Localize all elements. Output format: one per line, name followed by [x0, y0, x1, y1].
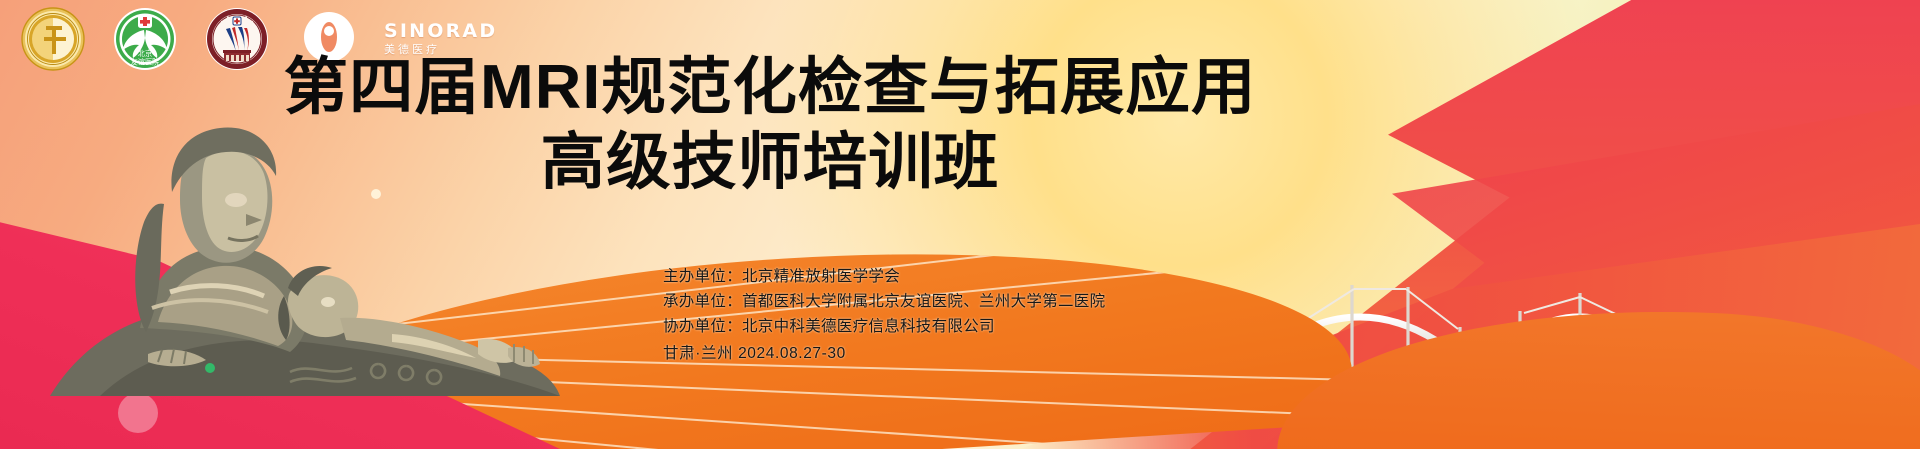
location-date-line: 甘肃·兰州 2024.08.27-30 — [663, 341, 1105, 366]
title-line-1: 第四届MRI规范化检查与拓展应用 — [0, 56, 1571, 119]
supporting-unit-line: 协办单位：北京中科美德医疗信息科技有限公司 — [663, 314, 1105, 339]
title-line-2: 高级技师培训班 — [0, 131, 1571, 194]
host-unit-line: 主办单位：北京精准放射医学学会 — [663, 264, 1105, 289]
sinorad-brand-en: SINORAD — [384, 22, 497, 42]
decor-dot-large — [118, 393, 158, 433]
sinorad-wordmark: SINORAD 美德医疗 — [384, 22, 497, 56]
co-host-unit-line: 承办单位：首都医科大学附属北京友谊医院、兰州大学第二医院 — [663, 289, 1105, 314]
conference-banner: 北京 友谊医院 — [0, 0, 1920, 449]
organizer-info-block: 主办单位：北京精准放射医学学会 承办单位：首都医科大学附属北京友谊医院、兰州大学… — [663, 264, 1105, 366]
banner-title-block: 第四届MRI规范化检查与拓展应用 高级技师培训班 — [0, 56, 1540, 194]
